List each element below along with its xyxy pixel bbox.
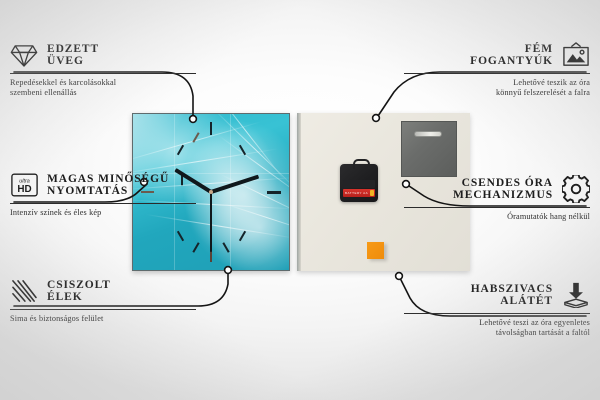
feature-tempered-glass: EDZETT ÜVEG Repedésekkel és karcolásokka…	[10, 40, 196, 98]
feature-title: HABSZIVACS ALÁTÉT	[471, 283, 553, 308]
feature-header: FÉM FOGANTYÚK	[404, 40, 590, 70]
feature-subtitle: Repedésekkel és karcolásokkal szembeni e…	[10, 78, 196, 98]
glass-seam	[230, 114, 231, 270]
feature-header: HABSZIVACS ALÁTÉT	[404, 280, 590, 310]
hanger-slot	[414, 131, 442, 137]
feature-divider	[10, 309, 196, 310]
picture-hanger-icon	[562, 41, 590, 69]
mechanism-panel	[343, 180, 375, 188]
foam-pad-part	[367, 242, 384, 259]
feature-header: CSISZOLT ÉLEK	[10, 276, 196, 306]
feature-divider	[404, 207, 590, 208]
clock-center-pin	[209, 190, 213, 194]
feature-title: FÉM FOGANTYÚK	[470, 43, 553, 68]
clock-tick	[192, 242, 199, 253]
clock-mechanism-part: BATTERY AA	[340, 164, 378, 202]
ultra-hd-icon: ultra HD	[10, 171, 38, 199]
infographic-canvas: BATTERY AA	[0, 0, 600, 400]
feature-title: CSENDES ÓRA MECHANIZMUS	[453, 177, 553, 202]
feature-divider	[10, 203, 196, 204]
clock-tick	[177, 231, 184, 242]
clock-tick	[210, 122, 212, 135]
feature-foam-pad: HABSZIVACS ALÁTÉT Lehetővé teszi az óra …	[404, 280, 590, 338]
feature-subtitle: Lehetővé teszik az óra könnyű felszerelé…	[404, 78, 590, 98]
glass-edge	[297, 113, 301, 271]
feature-divider	[404, 313, 590, 314]
battery-label: BATTERY AA	[345, 191, 368, 195]
feature-title: CSISZOLT ÉLEK	[47, 279, 111, 304]
feature-divider	[404, 73, 590, 74]
feature-subtitle: Lehetővé teszi az óra egyenletes távolsá…	[404, 318, 590, 338]
battery-terminal	[370, 190, 374, 196]
feature-subtitle: Óramutatók hang nélkül	[404, 212, 590, 222]
feature-divider	[10, 73, 196, 74]
gear-icon	[562, 175, 590, 203]
ultra-hd-icon-hd-text: HD	[17, 184, 31, 195]
feature-header: CSENDES ÓRA MECHANIZMUS	[404, 174, 590, 204]
connector-dot-foam-pad	[396, 273, 403, 280]
battery-part: BATTERY AA	[343, 189, 375, 197]
clock-second-hand	[210, 192, 212, 252]
feature-header: EDZETT ÜVEG	[10, 40, 196, 70]
press-pad-icon	[562, 281, 590, 309]
feature-header: ultra HD MAGAS MINŐSÉGŰ NYOMTATÁS	[10, 170, 196, 200]
feature-title: MAGAS MINŐSÉGŰ NYOMTATÁS	[47, 173, 169, 198]
feature-polished-edges: CSISZOLT ÉLEK Sima és biztonságos felüle…	[10, 276, 196, 324]
mechanism-hanging-loop	[353, 159, 370, 169]
feature-subtitle: Sima és biztonságos felület	[10, 314, 196, 324]
polished-edges-icon	[10, 277, 38, 305]
feature-metal-handles: FÉM FOGANTYÚK Lehetővé teszik az óra kön…	[404, 40, 590, 98]
feature-high-quality-print: ultra HD MAGAS MINŐSÉGŰ NYOMTATÁS Intenz…	[10, 170, 196, 218]
metal-hanger-part	[401, 121, 457, 177]
feature-title: EDZETT ÜVEG	[47, 43, 99, 68]
feature-subtitle: Intenzív színek és éles kép	[10, 208, 196, 218]
clock-tick	[267, 191, 281, 194]
feature-silent-mechanism: CSENDES ÓRA MECHANIZMUS Óramutatók hang …	[404, 174, 590, 222]
diamond-icon	[10, 41, 38, 69]
